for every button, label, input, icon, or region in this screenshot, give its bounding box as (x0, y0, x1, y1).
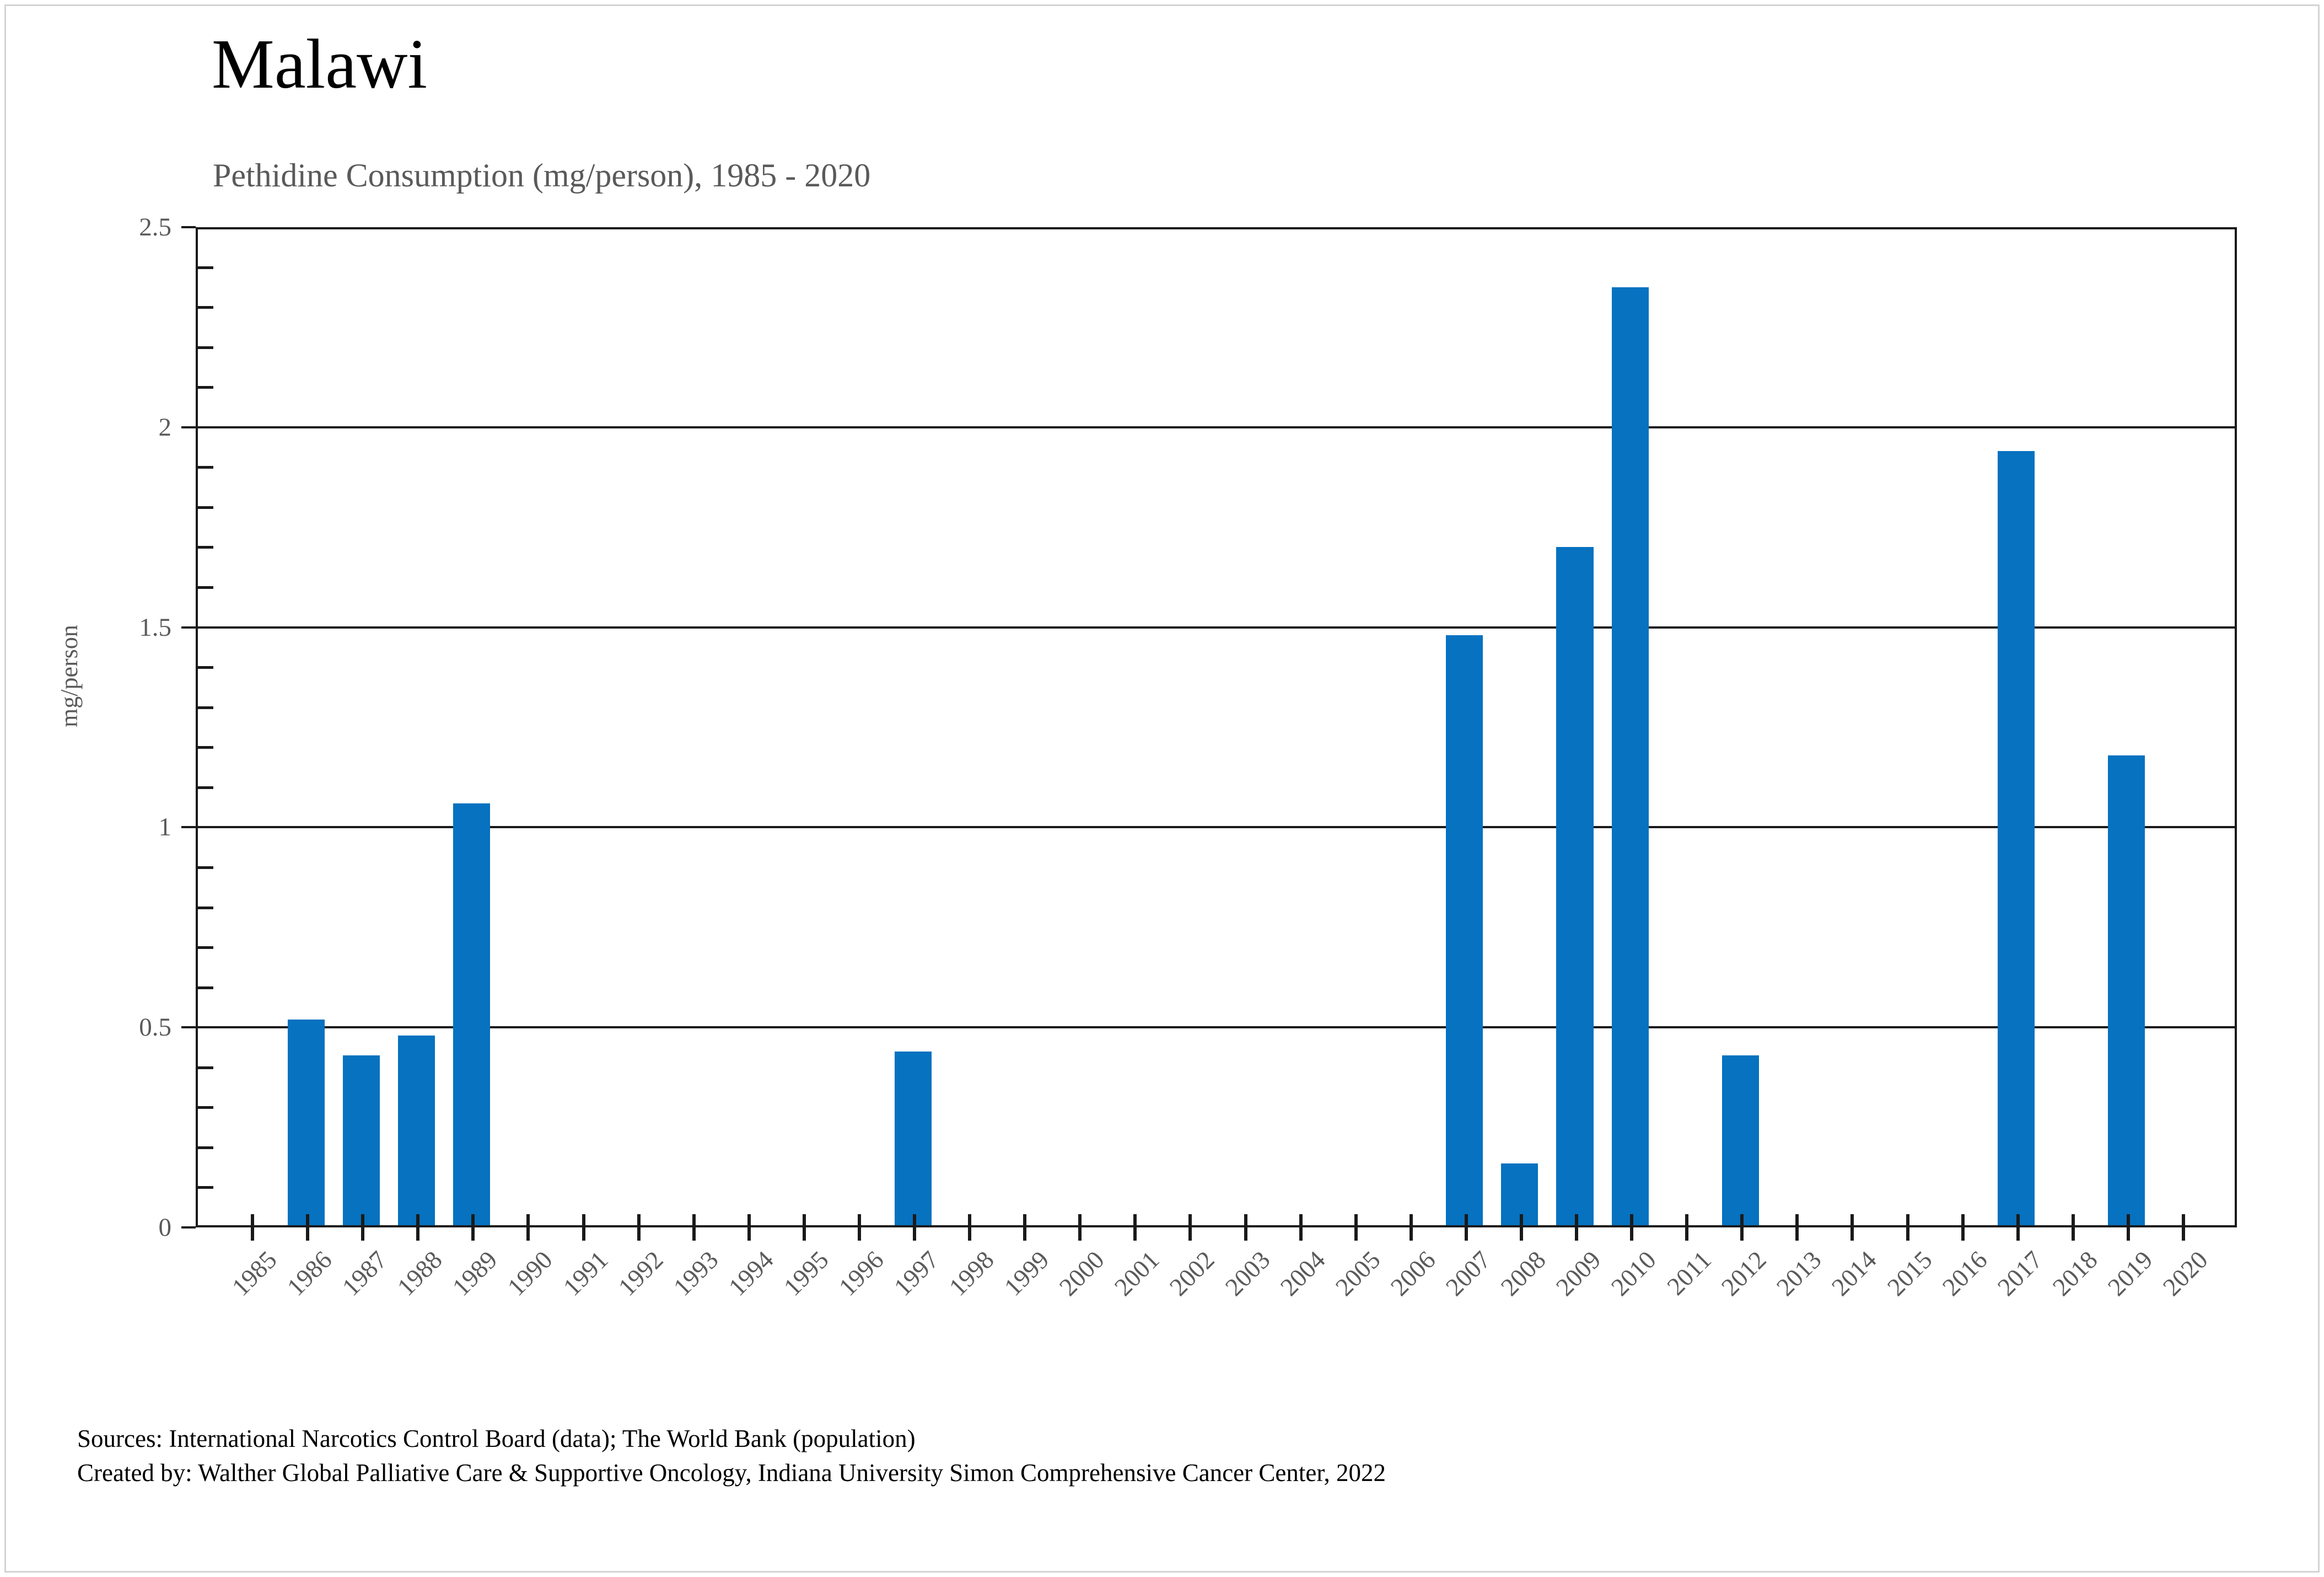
x-axis-tick-label: 2009 (1550, 1245, 1607, 1302)
x-axis-tick (1795, 1214, 1799, 1241)
x-axis-tick-label: 2020 (2157, 1245, 2214, 1302)
x-axis-tick-label: 2018 (2047, 1245, 2104, 1302)
footer-created-by: Created by: Walther Global Palliative Ca… (77, 1456, 1386, 1490)
x-axis-tick-label: 1985 (226, 1245, 283, 1302)
y-axis-minor-tick (197, 1066, 213, 1069)
x-axis-tick (251, 1214, 254, 1241)
x-axis-tick-label: 2000 (1053, 1245, 1110, 1302)
y-axis-minor-tick (197, 546, 213, 549)
x-axis-tick-label: 2012 (1715, 1245, 1772, 1302)
x-axis-tick (692, 1214, 696, 1241)
y-axis-minor-tick (197, 666, 213, 669)
x-axis-tick-label: 2010 (1605, 1245, 1662, 1302)
x-axis-tick (1520, 1214, 1523, 1241)
x-axis-tick (803, 1214, 806, 1241)
chart-page: Malawi Pethidine Consumption (mg/person)… (0, 0, 2324, 1577)
plot-area: 00.511.522.5 (196, 227, 2237, 1227)
x-axis-tick (1299, 1214, 1303, 1241)
y-axis-tick-label: 1 (159, 812, 172, 842)
y-axis-tick-label: 2 (159, 412, 172, 442)
x-axis-tick-label: 1989 (446, 1245, 503, 1302)
x-axis-tick (2072, 1214, 2075, 1241)
y-axis-minor-tick (197, 986, 213, 989)
x-axis-tick (1465, 1214, 1468, 1241)
y-axis-minor-tick (197, 746, 213, 749)
y-axis-title: mg/person (55, 625, 83, 727)
x-axis-tick (1961, 1214, 1965, 1241)
y-axis-minor-tick (197, 346, 213, 349)
bar[interactable] (1998, 451, 2035, 1227)
x-axis-tick-label: 2015 (1881, 1245, 1938, 1302)
bar[interactable] (1722, 1055, 1759, 1227)
page-title: Malawi (212, 29, 427, 99)
x-axis-tick (2127, 1214, 2130, 1241)
gridline (196, 626, 2237, 629)
x-axis-tick (1630, 1214, 1633, 1241)
y-axis-minor-tick (197, 866, 213, 869)
x-axis-tick-label: 2014 (1826, 1245, 1882, 1302)
y-axis-minor-tick (197, 786, 213, 789)
x-axis-tick (1188, 1214, 1192, 1241)
x-axis-tick-label: 2004 (1274, 1245, 1331, 1302)
x-axis-tick (1740, 1214, 1744, 1241)
y-axis-tick (181, 626, 196, 629)
x-axis-tick (1078, 1214, 1082, 1241)
x-axis-tick (968, 1214, 971, 1241)
x-axis-tick (2016, 1214, 2020, 1241)
x-axis-tick (1133, 1214, 1137, 1241)
x-axis-tick-label: 1991 (557, 1245, 614, 1302)
footer-sources: Sources: International Narcotics Control… (77, 1422, 1386, 1456)
x-axis-tick (306, 1214, 309, 1241)
x-axis-tick (1906, 1214, 1909, 1241)
y-axis-minor-tick (197, 266, 213, 269)
y-axis-minor-tick (197, 386, 213, 389)
bar[interactable] (1446, 635, 1483, 1227)
x-axis-tick-label: 2002 (1164, 1245, 1220, 1302)
y-axis-tick-label: 1.5 (139, 613, 171, 642)
x-axis-tick-label: 2019 (2102, 1245, 2159, 1302)
y-axis-tick (181, 1026, 196, 1028)
y-axis-minor-tick (197, 306, 213, 309)
x-axis-tick (416, 1214, 419, 1241)
x-axis-tick-label: 1996 (833, 1245, 890, 1302)
gridline (196, 426, 2237, 428)
x-axis-tick-label: 2003 (1219, 1245, 1276, 1302)
y-axis-minor-tick (197, 466, 213, 469)
x-axis-tick (361, 1214, 364, 1241)
bar[interactable] (288, 1020, 325, 1227)
x-axis-tick (637, 1214, 641, 1241)
x-axis-tick-label: 1995 (778, 1245, 835, 1302)
x-axis-tick-label: 1987 (336, 1245, 393, 1302)
gridline (196, 826, 2237, 828)
chart-subtitle: Pethidine Consumption (mg/person), 1985 … (213, 159, 870, 192)
bar[interactable] (895, 1052, 932, 1227)
x-axis-tick-label: 2013 (1771, 1245, 1827, 1302)
x-axis-tick-label: 1986 (281, 1245, 338, 1302)
x-axis-tick-label: 2011 (1661, 1245, 1717, 1301)
x-axis-tick (526, 1214, 530, 1241)
x-axis-tick (471, 1214, 475, 1241)
x-axis-tick-label: 2016 (1936, 1245, 1993, 1302)
x-axis-tick-label: 1988 (391, 1245, 448, 1302)
y-axis-tick (181, 1226, 196, 1229)
x-axis-tick-label: 1993 (668, 1245, 724, 1302)
x-axis-tick (913, 1214, 916, 1241)
y-axis-minor-tick (197, 1186, 213, 1189)
bar[interactable] (1556, 547, 1593, 1227)
y-axis-tick-label: 0.5 (139, 1012, 171, 1042)
y-axis-tick (181, 826, 196, 828)
x-axis-tick (1354, 1214, 1358, 1241)
x-axis-tick-label: 2001 (1109, 1245, 1165, 1302)
gridline (196, 1026, 2237, 1028)
x-axis-tick-label: 2017 (1992, 1245, 2048, 1302)
y-axis-minor-tick (197, 586, 213, 589)
bar[interactable] (2108, 755, 2145, 1227)
y-axis-minor-tick (197, 906, 213, 909)
x-axis-tick (1685, 1214, 1688, 1241)
y-axis-minor-tick (197, 506, 213, 509)
x-axis-tick-label: 2006 (1385, 1245, 1441, 1302)
x-axis-tick-label: 1998 (943, 1245, 1000, 1302)
x-axis-tick-label: 1994 (723, 1245, 779, 1302)
x-axis-tick (1023, 1214, 1026, 1241)
x-axis-tick (1410, 1214, 1413, 1241)
y-axis-minor-tick (197, 1106, 213, 1109)
y-axis-minor-tick (197, 1146, 213, 1149)
y-axis-tick-label: 0 (159, 1213, 172, 1242)
x-axis-tick (747, 1214, 751, 1241)
y-axis-minor-tick (197, 706, 213, 709)
bar[interactable] (343, 1055, 380, 1227)
x-axis-tick-label: 1990 (502, 1245, 558, 1302)
x-axis-tick (1244, 1214, 1247, 1241)
x-axis-tick (582, 1214, 585, 1241)
x-axis-tick-label: 2008 (1495, 1245, 1552, 1302)
x-axis-tick (2182, 1214, 2185, 1241)
bar[interactable] (398, 1036, 435, 1227)
footer: Sources: International Narcotics Control… (77, 1422, 1386, 1490)
x-axis-tick-label: 1992 (612, 1245, 669, 1302)
bar[interactable] (453, 803, 490, 1227)
plot-frame (196, 227, 2237, 1227)
x-axis-tick-label: 1999 (998, 1245, 1055, 1302)
x-axis-tick-label: 1997 (888, 1245, 945, 1302)
x-axis-tick-label: 2007 (1440, 1245, 1497, 1302)
x-axis-tick (1575, 1214, 1578, 1241)
y-axis-tick-label: 2.5 (139, 212, 171, 242)
y-axis-tick (181, 426, 196, 428)
x-axis-tick (1850, 1214, 1854, 1241)
y-axis-minor-tick (197, 946, 213, 949)
y-axis-tick (181, 226, 196, 228)
bar[interactable] (1612, 287, 1649, 1227)
x-axis-tick-label: 2005 (1330, 1245, 1386, 1302)
x-axis-tick (858, 1214, 861, 1241)
